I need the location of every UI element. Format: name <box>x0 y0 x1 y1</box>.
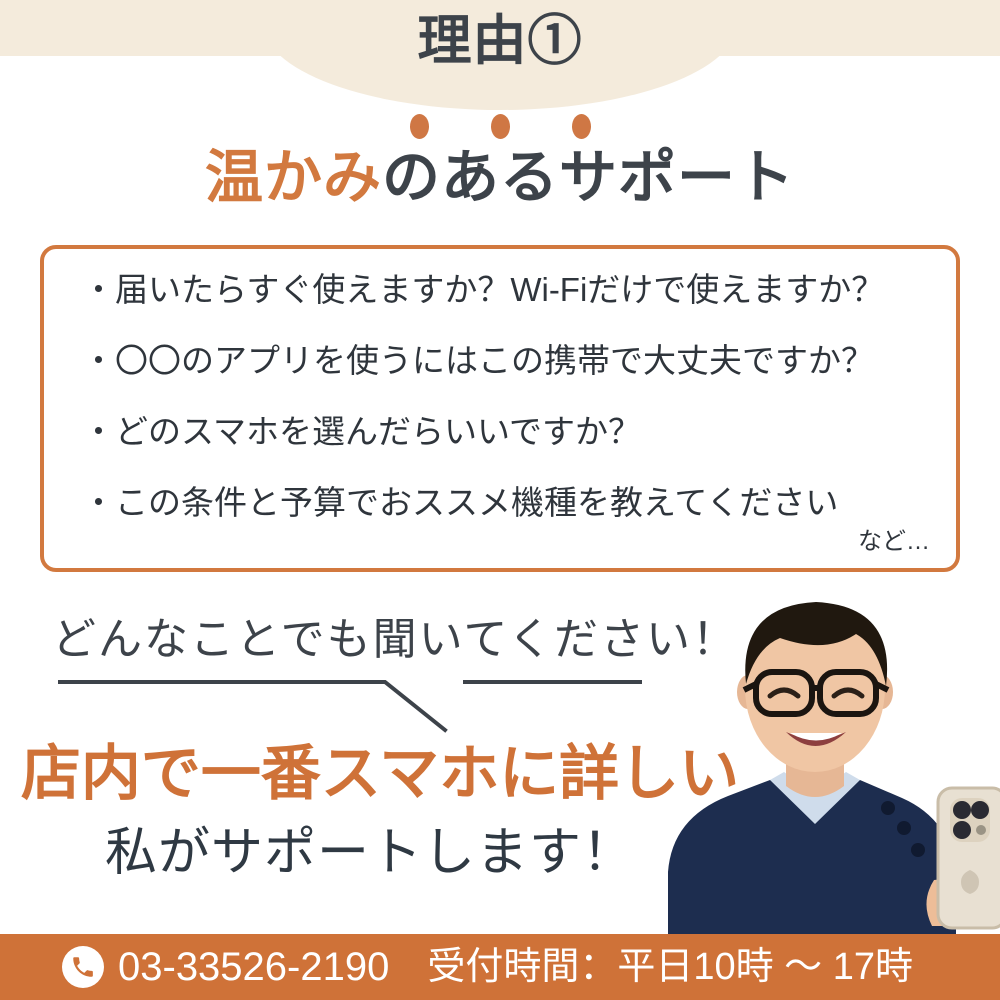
camera-lens <box>971 801 989 819</box>
list-item: ・〇〇のアプリを使うにはこの携帯で大丈夫ですか？ <box>82 344 932 377</box>
list-item: ・どのスマホを選んだらいいですか？ <box>82 415 932 448</box>
big-copy-line1: 店内で一番スマホに詳しい <box>20 742 740 805</box>
page-title: 理由① <box>0 14 1000 68</box>
headline-plain: のあるサポート <box>382 145 795 210</box>
list-item: ・この条件と予算でおススメ機種を教えてください <box>82 486 932 519</box>
headline: 温かみのあるサポート <box>0 146 1000 211</box>
business-hours: 受付時間：平日10時 ～ 17時 <box>427 948 913 986</box>
big-copy-line2: 私がサポートします！ <box>20 826 720 881</box>
camera-flash <box>976 825 986 835</box>
sweater-button <box>897 821 911 835</box>
phone-handset-icon <box>62 946 104 988</box>
question-box: ・届いたらすぐ使えますか？Wi-Fiだけで使えますか？ ・〇〇のアプリを使うには… <box>40 245 960 572</box>
dot-icon <box>572 114 591 139</box>
camera-lens <box>953 821 971 839</box>
decorative-dots <box>0 114 1000 139</box>
footer-contact-bar: 03-33526-2190 受付時間：平日10時 ～ 17時 <box>0 934 1000 1000</box>
question-list: ・届いたらすぐ使えますか？Wi-Fiだけで使えますか？ ・〇〇のアプリを使うには… <box>82 273 932 519</box>
dot-icon <box>410 114 429 139</box>
speech-tail-divider <box>40 660 680 740</box>
phone-number[interactable]: 03-33526-2190 <box>118 947 389 987</box>
list-item: ・届いたらすぐ使えますか？Wi-Fiだけで使えますか？ <box>82 273 932 306</box>
sweater-button <box>881 801 895 815</box>
sweater-button <box>911 843 925 857</box>
camera-lens <box>953 801 971 819</box>
etc-note: など… <box>858 521 930 556</box>
promo-graphic-root: 理由① 温かみのあるサポート ・届いたらすぐ使えますか？Wi-Fiだけで使えます… <box>0 0 1000 1000</box>
phone-handset-glyph <box>70 954 96 980</box>
headline-accent: 温かみ <box>205 145 382 210</box>
dot-icon <box>491 114 510 139</box>
